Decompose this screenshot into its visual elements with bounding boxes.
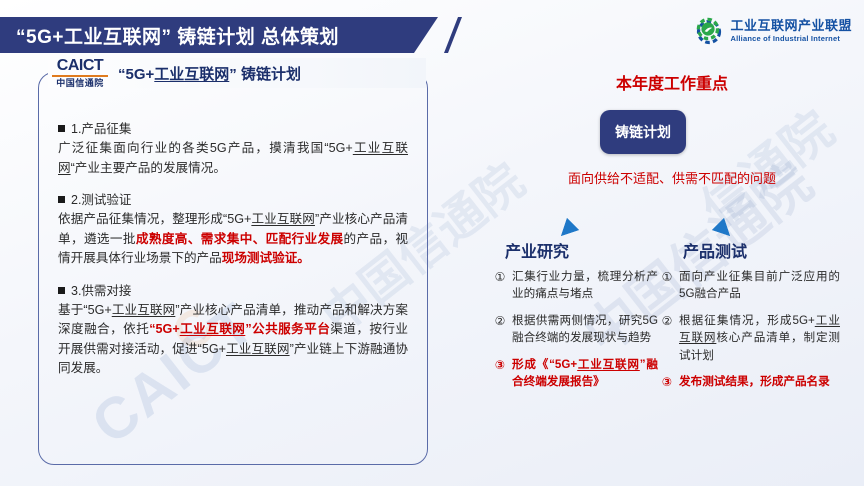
section-supply-demand: 3.供需对接 基于“5G+工业互联网”产业核心产品清单，推动产品和解决方案深度融… [58,280,408,379]
logo-cn-name: 工业互联网产业联盟 [730,19,852,32]
list-item: ③ 形成《“5G+工业互联网”融合终端发展报告》 [493,356,658,391]
section-product-collection: 1.产品征集 广泛征集面向行业的各类5G产品，摸清我国“5G+工业互联网“产业主… [58,118,408,178]
list-item: ① 汇集行业力量，梳理分析产业的痛点与堵点 [493,268,658,303]
zhulian-plan-pill[interactable]: 铸链计划 [600,110,686,154]
title-banner: “5G+工业互联网” 铸链计划 总体策划 [0,17,470,53]
list-item-number: ③ [493,356,507,391]
list-item: ① 面向产业征集目前广泛应用的5G融合产品 [660,268,840,303]
org-logo: 工业互联网产业联盟 Alliance of Industrial Interne… [694,16,852,46]
arrow-down-right-icon [690,196,736,242]
list-item: ② 根据供需两侧情况，研究5G融合终端的发展现状与趋势 [493,312,658,347]
right-panel-subtitle: 面向供给不适配、供需不匹配的问题 [487,168,857,187]
left-panel-header: CAICT 中国信通院 “5G+工业互联网” 铸链计划 [48,58,426,88]
section-heading: 2.测试验证 [58,189,408,208]
section-body: 广泛征集面向行业的各类5G产品，摸清我国“5G+工业互联网“产业主要产品的发展情… [58,139,408,178]
bullet-square-icon [58,287,65,294]
banner-shape: “5G+工业互联网” 铸链计划 总体策划 [0,17,438,53]
list-item-number: ③ [660,373,674,391]
gear-logo-icon [694,16,724,46]
list-item: ② 根据征集情况，形成5G+工业互联网核心产品清单，制定测试计划 [660,312,840,364]
logo-en-name: Alliance of Industrial Internet [730,35,852,43]
list-item-number: ② [660,312,674,364]
left-panel-title: “5G+工业互联网” 铸链计划 [118,63,301,84]
arrow-down-left-icon [555,196,601,242]
logo-text-block: 工业互联网产业联盟 Alliance of Industrial Interne… [730,19,852,43]
section-heading: 1.产品征集 [58,118,408,137]
section-heading: 3.供需对接 [58,280,408,299]
list-item-number: ② [493,312,507,347]
banner-slash-decoration [444,17,462,53]
page-title: “5G+工业互联网” 铸链计划 总体策划 [0,22,339,49]
section-body: 基于“5G+工业互联网”产业核心产品清单，推动产品和解决方案深度融合，依托“5G… [58,301,408,379]
section-heading-text: 3.供需对接 [71,284,131,298]
section-heading-text: 2.测试验证 [71,193,131,207]
column-heading-product-test: 产品测试 [683,238,747,262]
section-test-verification: 2.测试验证 依据产品征集情况，整理形成“5G+工业互联网”产业核心产品清单，遴… [58,189,408,269]
list-item-number: ① [493,268,507,303]
list-item-number: ① [660,268,674,303]
column-heading-industry-research: 产业研究 [505,238,569,262]
caict-acronym: CAICT [57,58,103,74]
section-body: 依据产品征集情况，整理形成“5G+工业互联网”产业核心产品清单，遴选一批成熟度高… [58,210,408,269]
list-item-text: 形成《“5G+工业互联网”融合终端发展报告》 [512,356,658,391]
column-industry-research: ① 汇集行业力量，梳理分析产业的痛点与堵点 ② 根据供需两侧情况，研究5G融合终… [493,268,658,399]
list-item-text: 面向产业征集目前广泛应用的5G融合产品 [679,268,840,303]
list-item-text: 根据供需两侧情况，研究5G融合终端的发展现状与趋势 [512,312,658,347]
caict-logo: CAICT 中国信通院 [52,58,108,88]
list-item-text: 汇集行业力量，梳理分析产业的痛点与堵点 [512,268,658,303]
caict-cn-name: 中国信通院 [56,79,104,88]
caict-rule [52,75,108,77]
bullet-square-icon [58,125,65,132]
bullet-square-icon [58,196,65,203]
column-product-test: ① 面向产业征集目前广泛应用的5G融合产品 ② 根据征集情况，形成5G+工业互联… [660,268,840,400]
list-item-text: 发布测试结果，形成产品名录 [679,373,840,391]
pill-label: 铸链计划 [615,122,671,142]
left-panel-body: 1.产品征集 广泛征集面向行业的各类5G产品，摸清我国“5G+工业互联网“产业主… [58,118,408,390]
section-heading-text: 1.产品征集 [71,122,131,136]
right-panel-title: 本年度工作重点 [487,70,857,94]
list-item-text: 根据征集情况，形成5G+工业互联网核心产品清单，制定测试计划 [679,312,840,364]
list-item: ③ 发布测试结果，形成产品名录 [660,373,840,391]
